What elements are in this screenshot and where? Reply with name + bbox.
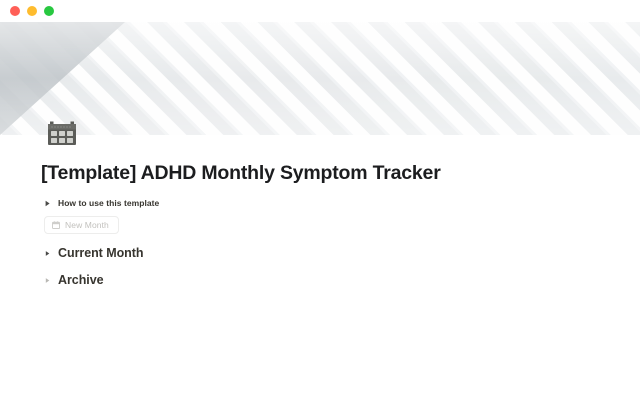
minimize-button[interactable] <box>27 6 37 16</box>
page-icon[interactable] <box>46 116 78 148</box>
page-cover-image[interactable] <box>0 22 640 135</box>
toggle-archive[interactable]: Archive <box>41 272 640 288</box>
toggle-current-month[interactable]: Current Month <box>41 245 640 261</box>
calendar-icon <box>46 116 78 148</box>
chevron-right-icon[interactable] <box>41 200 53 207</box>
new-month-button[interactable]: New Month <box>44 216 119 234</box>
window-titlebar <box>0 0 640 22</box>
page-title[interactable]: [Template] ADHD Monthly Symptom Tracker <box>41 161 640 185</box>
new-month-button-label: New Month <box>65 220 109 230</box>
calendar-icon <box>52 221 60 229</box>
toggle-how-to-use-this-template[interactable]: How to use this template <box>41 195 640 211</box>
close-button[interactable] <box>10 6 20 16</box>
toggle-label: Current Month <box>58 246 143 260</box>
app-window: [Template] ADHD Monthly Symptom Tracker … <box>0 0 640 400</box>
chevron-right-icon[interactable] <box>41 250 53 257</box>
traffic-lights <box>10 6 54 16</box>
toggle-label: How to use this template <box>58 198 159 208</box>
cover-artwork <box>0 22 640 135</box>
page-content: [Template] ADHD Monthly Symptom Tracker … <box>0 135 640 400</box>
toggle-label: Archive <box>58 273 104 287</box>
new-month-row: New Month <box>44 216 640 234</box>
chevron-right-icon[interactable] <box>41 277 53 284</box>
maximize-button[interactable] <box>44 6 54 16</box>
